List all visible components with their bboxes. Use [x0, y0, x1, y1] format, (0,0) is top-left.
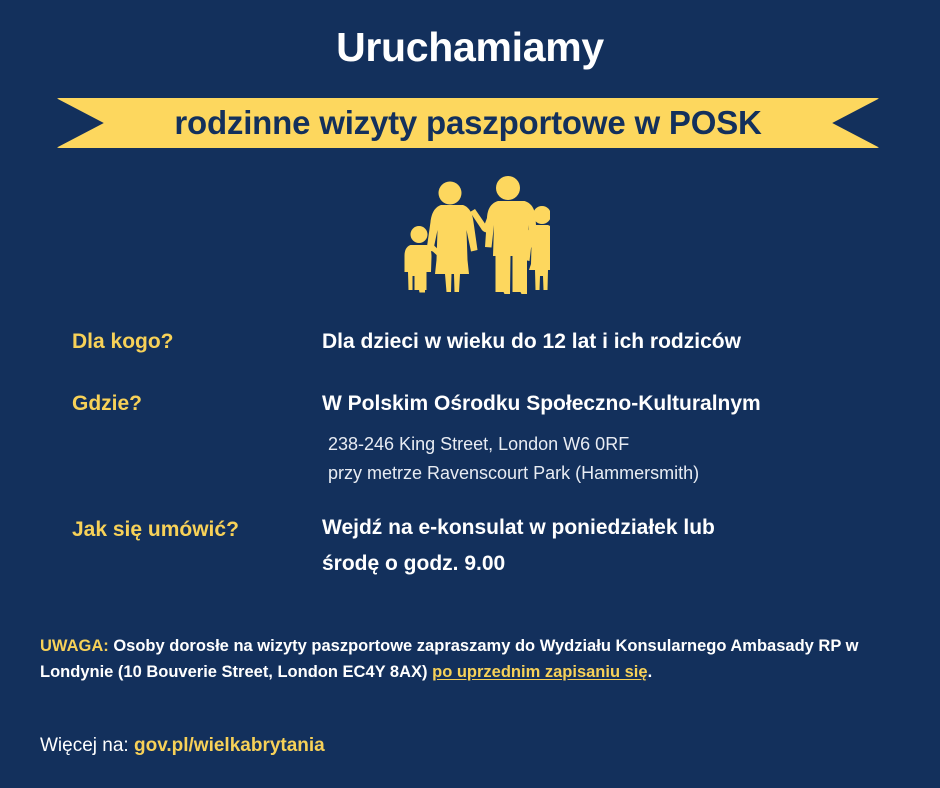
poster-canvas: Uruchamiamy rodzinne wizyty paszportowe …	[0, 0, 940, 788]
more-info-website-link[interactable]: gov.pl/wielkabrytania	[134, 735, 325, 756]
page-title: Uruchamiamy	[0, 26, 940, 69]
address-line-2: przy metrze Ravenscourt Park (Hammersmit…	[328, 463, 699, 484]
info-value-gdzie: W Polskim Ośrodku Społeczno-Kulturalnym	[322, 392, 761, 416]
info-value-dla-kogo: Dla dzieci w wieku do 12 lat i ich rodzi…	[322, 330, 741, 354]
info-label-jak-sie-umowic: Jak się umówić?	[72, 518, 239, 542]
ribbon-banner: rodzinne wizyty paszportowe w POSK	[56, 98, 880, 148]
more-info-line: Więcej na: gov.pl/wielkabrytania	[40, 735, 325, 757]
address-line-1: 238-246 King Street, London W6 0RF	[328, 434, 629, 455]
e-konsulat-highlight: e-konsulat	[418, 516, 523, 539]
booking-text-suffix: w poniedziałek lub	[524, 516, 715, 539]
info-label-gdzie: Gdzie?	[72, 392, 142, 416]
family-icon	[398, 168, 550, 298]
booking-text-prefix: Wejdź na	[322, 516, 418, 539]
info-label-dla-kogo: Dla kogo?	[72, 330, 174, 354]
more-info-prefix: Więcej na:	[40, 735, 134, 756]
footnote: UWAGA: Osoby dorosłe na wizyty paszporto…	[40, 633, 920, 685]
footnote-suffix: .	[648, 663, 653, 681]
info-value-jak-sie-umowic-line2: środę o godz. 9.00	[322, 552, 505, 576]
footnote-link[interactable]: po uprzednim zapisaniu się	[432, 663, 647, 681]
info-value-jak-sie-umowic-line1: Wejdź na e-konsulat w poniedziałek lub	[322, 516, 715, 540]
ribbon-label: rodzinne wizyty paszportowe w POSK	[56, 98, 880, 148]
footnote-warning-prefix: UWAGA:	[40, 637, 109, 655]
